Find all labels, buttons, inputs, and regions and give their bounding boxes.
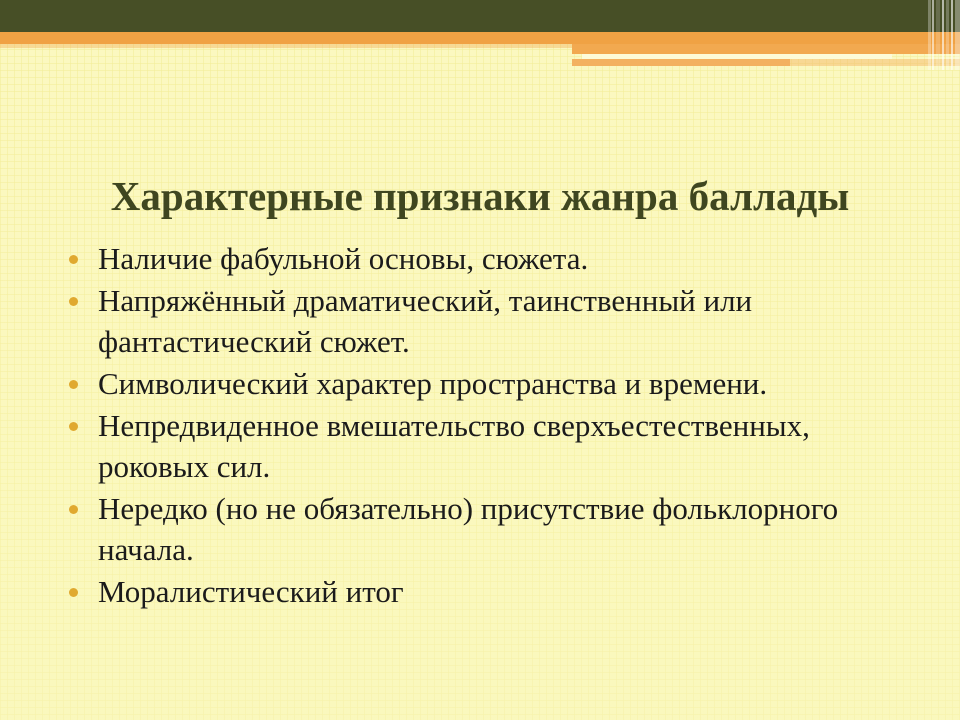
decoration-orange-block xyxy=(572,44,960,54)
bullet-dot-icon xyxy=(69,422,78,431)
presentation-slide: Характерные признаки жанра баллады Налич… xyxy=(0,0,960,720)
decoration-light-line xyxy=(582,54,892,59)
header-orange-band xyxy=(0,32,960,44)
list-item-text: Непредвиденное вмешательство сверхъестес… xyxy=(98,408,810,484)
list-item-text: Наличие фабульной основы, сюжета. xyxy=(98,241,588,276)
slide-bullet-list: Наличие фабульной основы, сюжета. Напряж… xyxy=(62,238,912,613)
bullet-dot-icon xyxy=(69,380,78,389)
stripe-6 xyxy=(951,0,953,70)
stripe-7 xyxy=(955,0,960,70)
stripe-2 xyxy=(932,0,934,70)
decoration-vertical-stripes xyxy=(928,0,960,70)
stripe-1 xyxy=(928,0,931,70)
stripe-5 xyxy=(946,0,949,70)
bullet-dot-icon xyxy=(69,255,78,264)
list-item: Символический характер пространства и вр… xyxy=(62,363,912,404)
list-item: Напряжённый драматический, таинственный … xyxy=(62,280,912,362)
list-item-text: Моралистический итог xyxy=(98,574,404,609)
bullet-dot-icon xyxy=(69,297,78,306)
list-item: Моралистический итог xyxy=(62,571,912,612)
bullet-dot-icon xyxy=(69,505,78,514)
list-item-text: Символический характер пространства и вр… xyxy=(98,366,767,401)
bullet-dot-icon xyxy=(69,588,78,597)
list-item-text: Напряжённый драматический, таинственный … xyxy=(98,283,752,359)
header-green-band xyxy=(0,0,960,32)
slide-title: Характерные признаки жанра баллады xyxy=(0,172,960,220)
stripe-3 xyxy=(936,0,940,70)
list-item: Нередко (но не обязательно) присутствие … xyxy=(62,488,912,570)
stripe-4 xyxy=(942,0,944,70)
decoration-orange-line xyxy=(572,59,790,66)
list-item: Наличие фабульной основы, сюжета. xyxy=(62,238,912,279)
list-item-text: Нередко (но не обязательно) присутствие … xyxy=(98,491,838,567)
list-item: Непредвиденное вмешательство сверхъестес… xyxy=(62,405,912,487)
